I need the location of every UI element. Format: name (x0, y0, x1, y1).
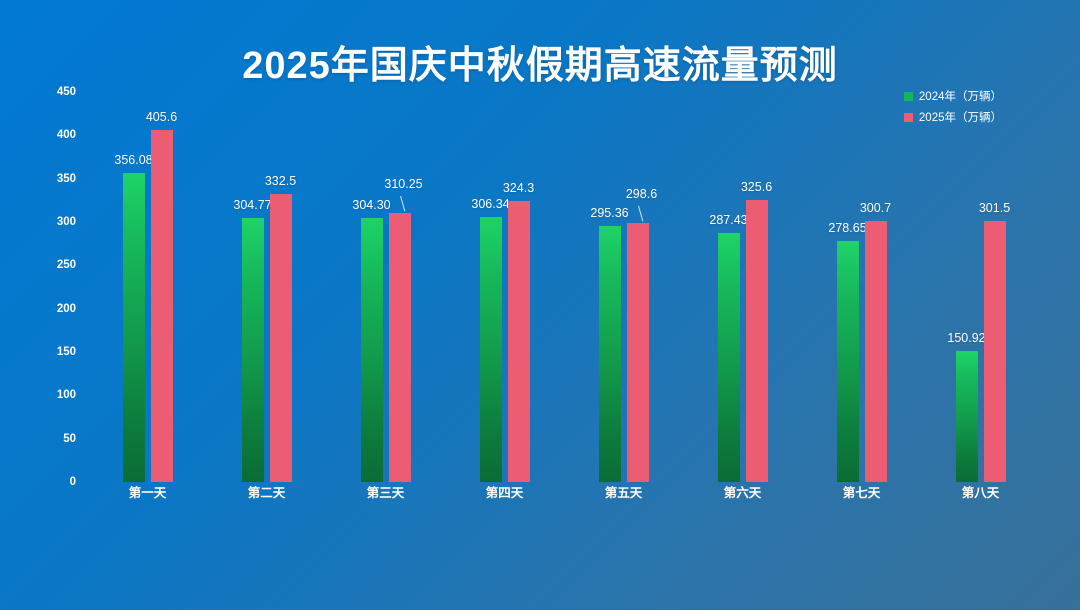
x-axis-tick-label: 第一天 (88, 482, 207, 501)
y-axis-tick-label: 0 (36, 476, 76, 488)
bar-2025[interactable] (151, 130, 173, 482)
bar-value-label: 304.30 (352, 198, 390, 212)
x-axis: 第一天第二天第三天第四天第五天第六天第七天第八天 (88, 482, 1040, 501)
plot-area: 450400350300250200150100500 356.08405.63… (88, 92, 1040, 482)
y-axis-tick-label: 250 (36, 259, 76, 271)
bar-2024[interactable] (956, 351, 978, 482)
y-axis-tick-label: 300 (36, 216, 76, 228)
bar-2025[interactable] (627, 223, 649, 482)
bar-2024[interactable] (718, 233, 740, 482)
bar-value-label: 405.6 (146, 110, 177, 124)
bar-group: 304.30310.25 (326, 92, 445, 482)
label-leader-line (400, 196, 405, 212)
bar-groups: 356.08405.6304.77332.5304.30310.25306.34… (88, 92, 1040, 482)
x-axis-tick-label: 第四天 (445, 482, 564, 501)
bar-value-label: 325.6 (741, 180, 772, 194)
bar-2025[interactable] (865, 221, 887, 482)
y-axis-tick-label: 150 (36, 346, 76, 358)
bar-2025[interactable] (746, 200, 768, 482)
bar-value-label: 306.34 (471, 197, 509, 211)
bar-value-label: 295.36 (590, 206, 628, 220)
chart-canvas: 2025年国庆中秋假期高速流量预测 2024年（万辆） 2025年（万辆） 45… (0, 0, 1080, 610)
label-leader-line (638, 206, 643, 222)
bar-value-label: 278.65 (828, 221, 866, 235)
bar-2024[interactable] (837, 241, 859, 482)
bar-value-label: 287.43 (709, 213, 747, 227)
bar-group: 150.92301.5 (921, 92, 1040, 482)
bar-group: 306.34324.3 (445, 92, 564, 482)
x-axis-tick-label: 第三天 (326, 482, 445, 501)
bar-value-label: 310.25 (384, 177, 422, 191)
bar-group: 278.65300.7 (802, 92, 921, 482)
bar-2024[interactable] (123, 173, 145, 482)
bar-group: 295.36298.6 (564, 92, 683, 482)
bar-group: 304.77332.5 (207, 92, 326, 482)
bar-2024[interactable] (361, 218, 383, 482)
bar-2025[interactable] (389, 213, 411, 482)
bar-2025[interactable] (508, 201, 530, 482)
chart-title: 2025年国庆中秋假期高速流量预测 (0, 34, 1080, 89)
bar-value-label: 150.92 (947, 331, 985, 345)
bar-group: 287.43325.6 (683, 92, 802, 482)
y-axis-tick-label: 350 (36, 173, 76, 185)
bar-2024[interactable] (242, 218, 264, 482)
bar-group: 356.08405.6 (88, 92, 207, 482)
bar-value-label: 332.5 (265, 174, 296, 188)
bar-2024[interactable] (480, 217, 502, 482)
bar-value-label: 304.77 (233, 198, 271, 212)
bar-2025[interactable] (270, 194, 292, 482)
y-axis-tick-label: 200 (36, 303, 76, 315)
y-axis-tick-label: 400 (36, 129, 76, 141)
bar-value-label: 356.08 (114, 153, 152, 167)
bar-value-label: 300.7 (860, 201, 891, 215)
bar-value-label: 324.3 (503, 181, 534, 195)
x-axis-tick-label: 第七天 (802, 482, 921, 501)
x-axis-tick-label: 第二天 (207, 482, 326, 501)
x-axis-tick-label: 第六天 (683, 482, 802, 501)
bar-2025[interactable] (984, 221, 1006, 482)
bar-value-label: 298.6 (626, 187, 657, 201)
bar-2024[interactable] (599, 226, 621, 482)
y-axis-tick-label: 450 (36, 86, 76, 98)
x-axis-tick-label: 第八天 (921, 482, 1040, 501)
y-axis-tick-label: 100 (36, 389, 76, 401)
y-axis-tick-label: 50 (36, 433, 76, 445)
bar-value-label: 301.5 (979, 201, 1010, 215)
x-axis-tick-label: 第五天 (564, 482, 683, 501)
